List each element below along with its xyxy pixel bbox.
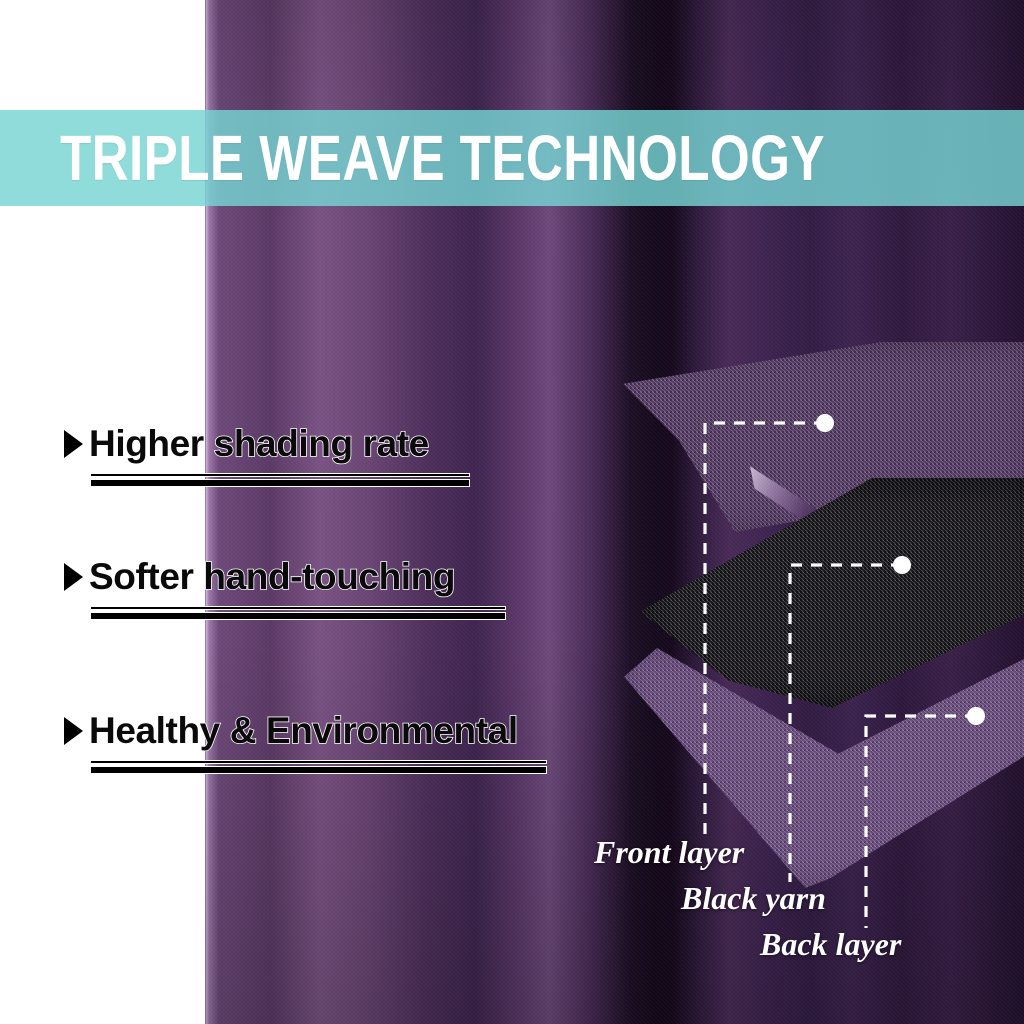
feature-underline-group [90,760,547,774]
feature-row: Softer hand-touching [64,558,506,597]
feature-label: Healthy & Environmental [89,712,518,751]
feature-label: Softer hand-touching [89,558,455,597]
feature-underline-thin [90,760,547,764]
feature-item-3: Healthy & Environmental [64,712,547,774]
feature-underline-thin [90,473,470,477]
layer-label-back-layer: Back layer [760,928,901,960]
feature-row: Higher shading rate [64,425,470,464]
feature-label: Higher shading rate [89,425,429,464]
banner: TRIPLE WEAVE TECHNOLOGY [0,110,1024,206]
triangle-right-icon [64,563,83,591]
feature-underline-thin [90,606,506,610]
fabric-layer-diagram [600,330,1024,890]
banner-title: TRIPLE WEAVE TECHNOLOGY [60,126,825,190]
triangle-right-icon [64,717,83,745]
triangle-right-icon [64,430,83,458]
feature-underline-group [90,606,506,620]
layer-label-black-yarn: Black yarn [681,882,826,914]
feature-underline-thick [90,612,506,620]
feature-row: Healthy & Environmental [64,712,547,751]
feature-item-2: Softer hand-touching [64,558,506,620]
layer-label-front-layer: Front layer [594,836,744,868]
feature-underline-thick [90,479,470,487]
product-feature-image: TRIPLE WEAVE TECHNOLOGY Higher shading r… [0,0,1024,1024]
feature-underline-thick [90,766,547,774]
feature-item-1: Higher shading rate [64,425,470,487]
feature-underline-group [90,473,470,487]
